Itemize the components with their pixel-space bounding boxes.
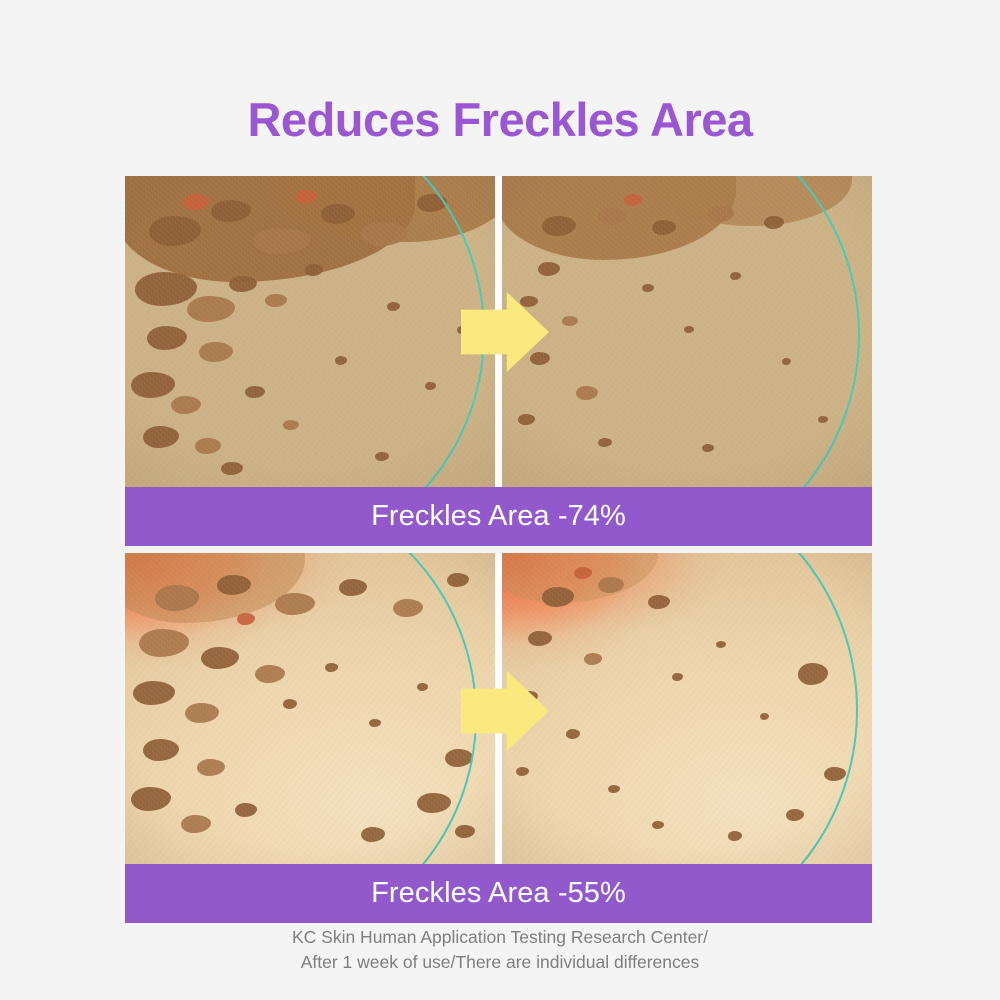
result-banner: Freckles Area -74% bbox=[125, 487, 872, 546]
result-banner: Freckles Area -55% bbox=[125, 864, 872, 923]
promo-page: Reduces Freckles Area bbox=[0, 0, 1000, 1000]
skin-texture bbox=[502, 176, 872, 487]
comparison-row: Freckles Area -55% bbox=[125, 553, 872, 923]
skin-texture bbox=[125, 176, 495, 487]
before-after-comparison: Freckles Area -74% bbox=[125, 176, 872, 923]
footer-disclaimer: KC Skin Human Application Testing Resear… bbox=[0, 925, 1000, 975]
page-title: Reduces Freckles Area bbox=[0, 94, 1000, 146]
before-image-pane bbox=[125, 553, 495, 864]
before-image-pane bbox=[125, 176, 495, 487]
image-pair bbox=[125, 553, 872, 864]
after-image-pane bbox=[502, 553, 872, 864]
comparison-row: Freckles Area -74% bbox=[125, 176, 872, 546]
image-pair bbox=[125, 176, 872, 487]
footer-line-1: KC Skin Human Application Testing Resear… bbox=[0, 925, 1000, 950]
footer-line-2: After 1 week of use/There are individual… bbox=[0, 950, 1000, 975]
after-image-pane bbox=[502, 176, 872, 487]
skin-texture bbox=[125, 553, 495, 864]
skin-texture bbox=[502, 553, 872, 864]
